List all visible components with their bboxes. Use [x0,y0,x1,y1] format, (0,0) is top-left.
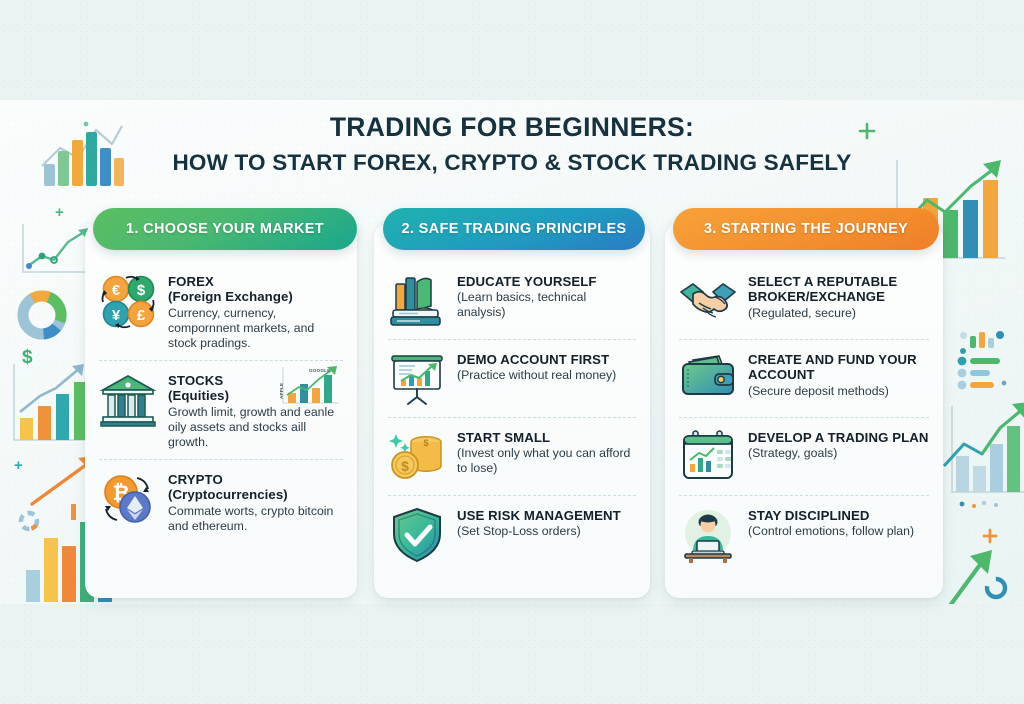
title-line-1: TRADING FOR BEGINNERS: [0,112,1024,143]
person-at-laptop-icon [679,506,737,564]
list-item-educate-yourself[interactable]: EDUCATE YOURSELF (Learn basics, technica… [388,262,636,339]
column-header-3[interactable]: 3. STARTING THE JOURNEY [673,208,939,250]
svg-text:$: $ [423,438,428,448]
crypto-text: CRYPTO (Cryptocurrencies) Commate worts,… [168,470,343,534]
item-heading: SELECT A REPUTABLE BROKER/EXCHANGE [748,274,929,305]
infographic-root: + $ + [0,0,1024,704]
svg-text:GOOGLE: GOOGLE [309,368,330,373]
item-heading: DEVELOP A TRADING PLAN [748,430,929,445]
list-item-crypto[interactable]: ₿ CRYPTO (Cryptocurrencies) [99,459,343,543]
item-heading: START SMALL [457,430,636,445]
handshake-icon [679,272,737,330]
column-header-1[interactable]: 1. CHOOSE YOUR MARKET [93,208,357,250]
list-item-trading-plan[interactable]: DEVELOP A TRADING PLAN (Strategy, goals) [679,417,929,495]
educate-text: EDUCATE YOURSELF (Learn basics, technica… [457,272,636,320]
item-body: (Learn basics, technical analysis) [457,290,636,320]
list-item-demo-account[interactable]: DEMO ACCOUNT FIRST (Practice without rea… [388,339,636,417]
shield-check-icon [388,506,446,564]
column-3-items: SELECT A REPUTABLE BROKER/EXCHANGE (Regu… [665,262,943,573]
forex-text: FOREX (Foreign Exchange) Currency, curne… [168,272,343,351]
list-item-forex[interactable]: € $ ¥ £ [99,262,343,360]
column-header-2[interactable]: 2. SAFE TRADING PRINCIPLES [383,208,645,250]
item-body: (Invest only what you can afford to lose… [457,446,636,476]
column-1-items: € $ ¥ £ [85,262,357,543]
item-body: Currency, curnency, compornnent markets,… [168,306,343,351]
stack-of-coins-icon: $ $ [388,428,446,486]
item-body: (Set Stop-Loss orders) [457,524,636,539]
title-block: TRADING FOR BEGINNERS: HOW TO START FORE… [0,112,1024,176]
item-heading: CREATE AND FUND YOUR ACCOUNT [748,352,929,383]
svg-text:$: $ [137,282,146,299]
risk-management-text: USE RISK MANAGEMENT (Set Stop-Loss order… [457,506,636,539]
bank-building-icon [99,371,157,429]
list-item-stocks[interactable]: GOOGLE APPLE STOCKS (Equities) Growth li… [99,360,343,459]
columns-container: 1. CHOOSE YOUR MARKET € $ ¥ £ [0,208,1024,598]
item-body: (Strategy, goals) [748,446,929,461]
svg-text:¥: ¥ [112,307,121,324]
list-item-stay-disciplined[interactable]: STAY DISCIPLINED (Control emotions, foll… [679,495,929,573]
presentation-chart-icon [388,350,446,408]
trading-plan-text: DEVELOP A TRADING PLAN (Strategy, goals) [748,428,929,461]
mini-stock-chart: GOOGLE APPLE [279,365,341,411]
item-body: (Practice without real money) [457,368,636,383]
broker-text: SELECT A REPUTABLE BROKER/EXCHANGE (Regu… [748,272,929,321]
item-heading: EDUCATE YOURSELF [457,274,636,289]
stocks-text: GOOGLE APPLE STOCKS (Equities) Growth li… [168,371,343,450]
disciplined-text: STAY DISCIPLINED (Control emotions, foll… [748,506,929,539]
svg-text:$: $ [401,458,409,474]
item-heading: STAY DISCIPLINED [748,508,929,523]
item-heading: CRYPTO [168,472,343,487]
item-heading: DEMO ACCOUNT FIRST [457,352,636,367]
item-body: (Secure deposit methods) [748,384,929,399]
item-heading: FOREX [168,274,343,289]
fund-account-text: CREATE AND FUND YOUR ACCOUNT (Secure dep… [748,350,929,399]
bitcoin-ethereum-icon: ₿ [99,470,157,528]
title-line-2: HOW TO START FOREX, CRYPTO & STOCK TRADI… [0,150,1024,176]
calendar-chart-icon [679,428,737,486]
svg-text:€: € [112,282,121,299]
item-heading: USE RISK MANAGEMENT [457,508,636,523]
svg-text:£: £ [137,307,146,324]
item-body: (Regulated, secure) [748,306,929,321]
item-subheading: (Foreign Exchange) [168,289,343,304]
wallet-icon [679,350,737,408]
demo-text: DEMO ACCOUNT FIRST (Practice without rea… [457,350,636,383]
item-subheading: (Cryptocurrencies) [168,487,343,502]
currency-exchange-coins-icon: € $ ¥ £ [99,272,157,330]
list-item-fund-account[interactable]: CREATE AND FUND YOUR ACCOUNT (Secure dep… [679,339,929,417]
item-body: (Control emotions, follow plan) [748,524,929,539]
svg-text:APPLE: APPLE [279,383,284,399]
item-body: Growth limit, growth and eanle oily asse… [168,405,343,450]
list-item-risk-management[interactable]: USE RISK MANAGEMENT (Set Stop-Loss order… [388,495,636,573]
start-small-text: START SMALL (Invest only what you can af… [457,428,636,476]
stack-of-books-icon [388,272,446,330]
list-item-start-small[interactable]: $ $ START SMALL (Invest only what you ca… [388,417,636,495]
column-2-items: EDUCATE YOURSELF (Learn basics, technica… [374,262,650,573]
list-item-select-broker[interactable]: SELECT A REPUTABLE BROKER/EXCHANGE (Regu… [679,262,929,339]
item-body: Commate worts, crypto bitcoin and ethere… [168,504,343,534]
